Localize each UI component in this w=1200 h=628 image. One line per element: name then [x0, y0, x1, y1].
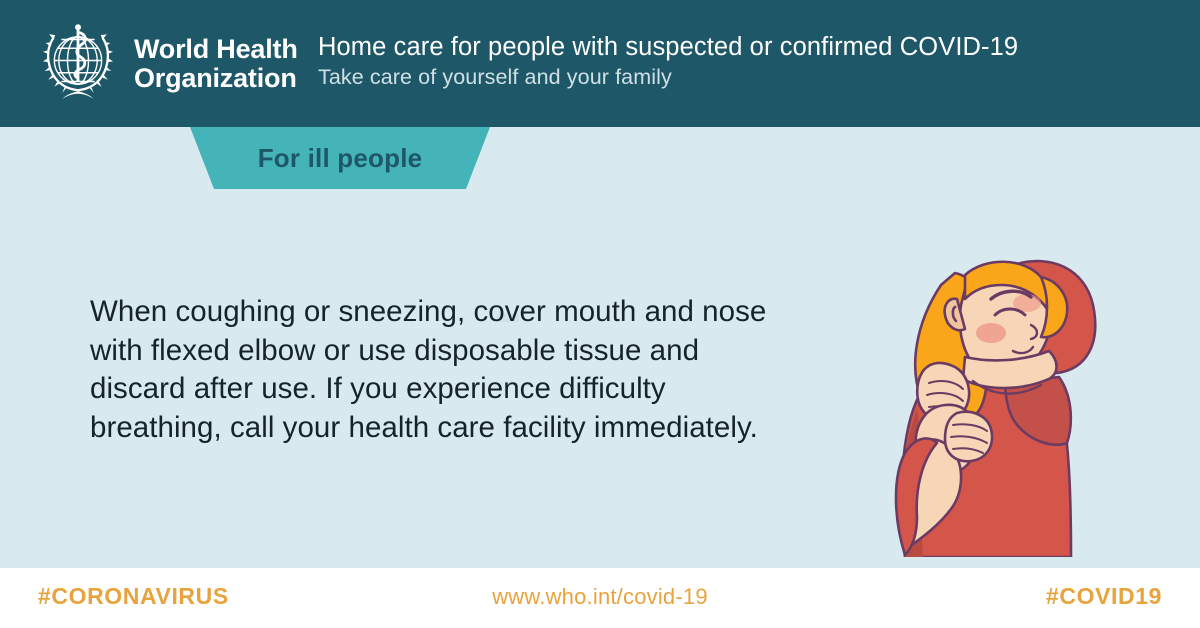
who-logo-text: World Health Organization	[134, 35, 298, 93]
section-tab-label: For ill people	[258, 145, 423, 171]
header-titles: Home care for people with suspected or c…	[318, 31, 1018, 92]
who-website-url[interactable]: www.who.int/covid-19	[0, 586, 1200, 608]
who-covid-infographic: World Health Organization Home care for …	[0, 0, 1200, 628]
advice-message: When coughing or sneezing, cover mouth a…	[90, 293, 790, 447]
footer-bar: #CORONAVIRUS www.who.int/covid-19 #COVID…	[0, 568, 1200, 628]
who-emblem-icon	[34, 22, 122, 106]
body-area: For ill people When coughing or sneezing…	[0, 127, 1200, 568]
section-tab-for-ill-people: For ill people	[190, 127, 490, 189]
page-title: Home care for people with suspected or c…	[318, 31, 1018, 63]
page-subtitle: Take care of yourself and your family	[318, 63, 1018, 92]
hashtag-covid19: #COVID19	[1046, 585, 1162, 608]
header-bar: World Health Organization Home care for …	[0, 0, 1200, 127]
who-logo: World Health Organization	[34, 22, 298, 106]
